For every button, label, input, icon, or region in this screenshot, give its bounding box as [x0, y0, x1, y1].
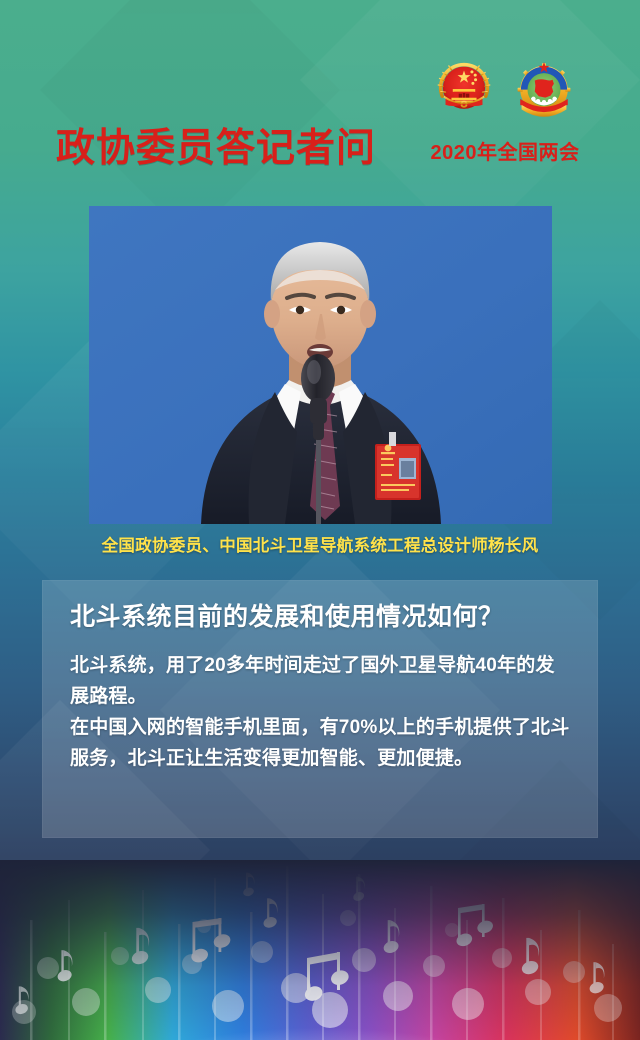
- qa-question: 北斗系统目前的发展和使用情况如何？: [70, 602, 572, 633]
- qa-answer: 北斗系统，用了20多年时间走过了国外卫星导航40年的发展路程。 在中国入网的智能…: [70, 651, 572, 774]
- infographic-poster: 政协委员答记者问: [0, 0, 640, 1040]
- qa-answer-paragraph: 在中国入网的智能手机里面，有70%以上的手机提供了北斗服务，北斗正让生活变得更加…: [70, 713, 572, 775]
- qa-answer-paragraph: 北斗系统，用了20多年时间走过了国外卫星导航40年的发展路程。: [70, 651, 572, 713]
- qa-panel: 北斗系统目前的发展和使用情况如何？ 北斗系统，用了20多年时间走过了国外卫星导航…: [42, 580, 598, 838]
- session-label: 2020年全国两会: [410, 136, 600, 165]
- emblem-group: [420, 58, 588, 124]
- national-emblem-of-china-icon: [431, 58, 497, 124]
- speaker-photo: [89, 206, 552, 524]
- cppcc-emblem-icon: [511, 58, 577, 124]
- page-title: 政协委员答记者问: [56, 117, 376, 173]
- photo-caption: 全国政协委员、中国北斗卫星导航系统工程总设计师杨长风: [0, 532, 640, 556]
- poster-header: 政协委员答记者问: [0, 0, 640, 200]
- music-notes-decoration: [0, 860, 640, 1040]
